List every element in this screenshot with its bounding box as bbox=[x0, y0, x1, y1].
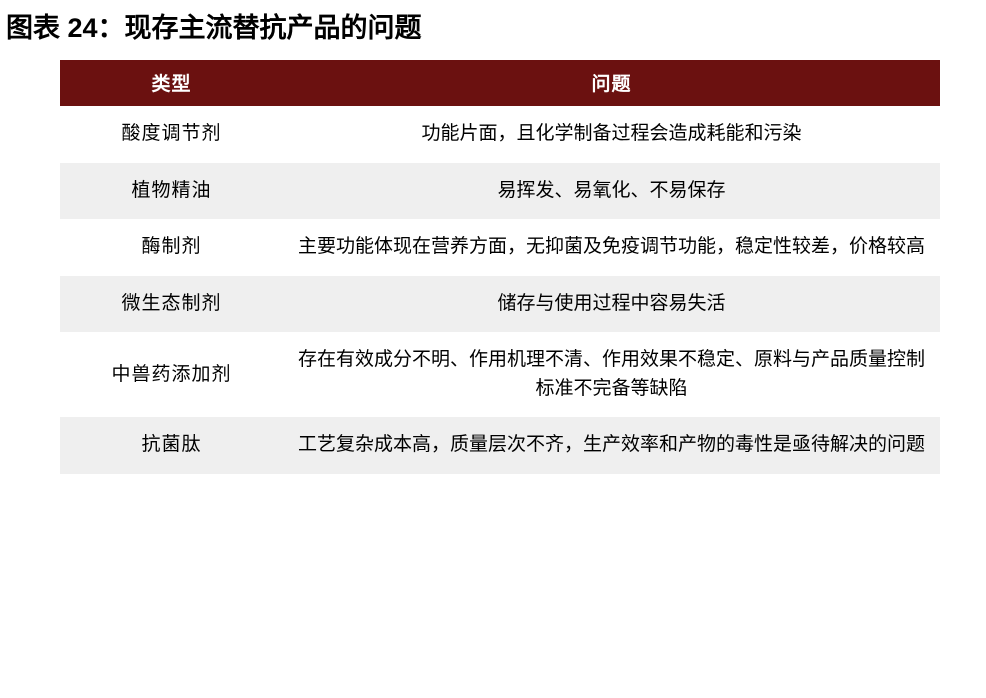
cell-issue: 主要功能体现在营养方面，无抑菌及免疫调节功能，稳定性较差，价格较高 bbox=[283, 219, 940, 276]
cell-type: 中兽药添加剂 bbox=[60, 332, 283, 417]
table-row: 抗菌肽 工艺复杂成本高，质量层次不齐，生产效率和产物的毒性是亟待解决的问题 bbox=[60, 417, 940, 474]
table-row: 酶制剂 主要功能体现在营养方面，无抑菌及免疫调节功能，稳定性较差，价格较高 bbox=[60, 219, 940, 276]
cell-type: 抗菌肽 bbox=[60, 417, 283, 474]
cell-issue: 储存与使用过程中容易失活 bbox=[283, 276, 940, 333]
cell-type: 微生态制剂 bbox=[60, 276, 283, 333]
cell-type: 酶制剂 bbox=[60, 219, 283, 276]
table-row: 微生态制剂 储存与使用过程中容易失活 bbox=[60, 276, 940, 333]
cell-issue: 存在有效成分不明、作用机理不清、作用效果不稳定、原料与产品质量控制标准不完备等缺… bbox=[283, 332, 940, 417]
column-header-issue: 问题 bbox=[283, 60, 940, 106]
cell-issue: 功能片面，且化学制备过程会造成耗能和污染 bbox=[283, 106, 940, 163]
cell-type: 植物精油 bbox=[60, 163, 283, 220]
issues-table: 类型 问题 酸度调节剂 功能片面，且化学制备过程会造成耗能和污染 植物精油 易挥… bbox=[60, 60, 940, 474]
table-header: 类型 问题 bbox=[60, 60, 940, 106]
cell-type: 酸度调节剂 bbox=[60, 106, 283, 163]
cell-issue: 工艺复杂成本高，质量层次不齐，生产效率和产物的毒性是亟待解决的问题 bbox=[283, 417, 940, 474]
column-header-type: 类型 bbox=[60, 60, 283, 106]
figure-page: 图表 24：现存主流替抗产品的问题 类型 问题 酸度调节剂 功能片面，且化学制备… bbox=[0, 0, 986, 698]
table-row: 酸度调节剂 功能片面，且化学制备过程会造成耗能和污染 bbox=[60, 106, 940, 163]
table-body: 酸度调节剂 功能片面，且化学制备过程会造成耗能和污染 植物精油 易挥发、易氧化、… bbox=[60, 106, 940, 474]
table-header-row: 类型 问题 bbox=[60, 60, 940, 106]
page-title: 图表 24：现存主流替抗产品的问题 bbox=[0, 0, 986, 46]
table-container: 类型 问题 酸度调节剂 功能片面，且化学制备过程会造成耗能和污染 植物精油 易挥… bbox=[60, 60, 940, 474]
cell-issue: 易挥发、易氧化、不易保存 bbox=[283, 163, 940, 220]
table-row: 中兽药添加剂 存在有效成分不明、作用机理不清、作用效果不稳定、原料与产品质量控制… bbox=[60, 332, 940, 417]
table-row: 植物精油 易挥发、易氧化、不易保存 bbox=[60, 163, 940, 220]
